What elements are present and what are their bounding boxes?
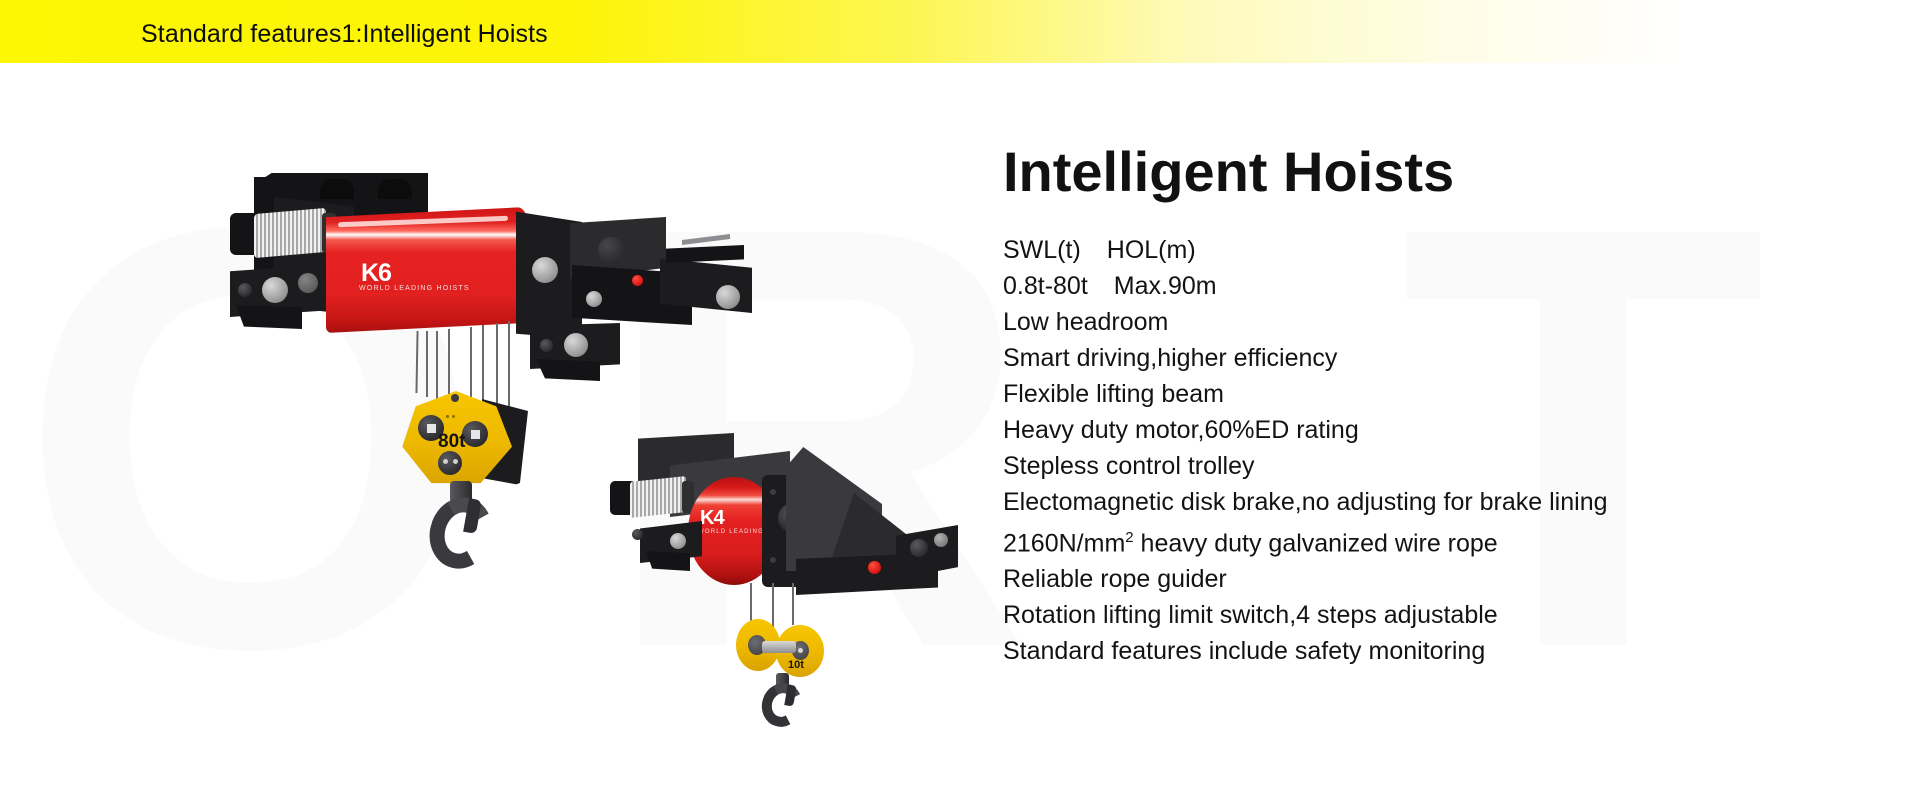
page-title: Intelligent Hoists — [1003, 140, 1823, 204]
feature-smart-driving: Smart driving,higher efficiency — [1003, 340, 1823, 376]
hookblock-capacity-10t: 10t — [788, 659, 804, 671]
spec-header-swl: SWL(t) — [1003, 236, 1081, 264]
slide-canvas: Standard features1:Intelligent Hoists O … — [0, 0, 1920, 800]
product-artwork: K6 WORLD LEADING HOISTS — [0, 63, 1000, 800]
hookblock-capacity-80t: 80t — [438, 431, 465, 453]
feature-rope-guider: Reliable rope guider — [1003, 561, 1823, 597]
feature-stepless-trolley: Stepless control trolley — [1003, 448, 1823, 484]
spec-value-hol: Max.90m — [1114, 272, 1217, 300]
feature-limit-switch: Rotation lifting limit switch,4 steps ad… — [1003, 597, 1823, 633]
k4-model-label: K4 — [700, 507, 724, 530]
feature-safety-monitoring: Standard features include safety monitor… — [1003, 633, 1823, 669]
feature-flexible-beam: Flexible lifting beam — [1003, 376, 1823, 412]
feature-heavy-duty-motor: Heavy duty motor,60%ED rating — [1003, 412, 1823, 448]
slide-title: Standard features1:Intelligent Hoists — [141, 20, 548, 49]
feature-low-headroom: Low headroom — [1003, 304, 1823, 340]
spec-header-hol: HOL(m) — [1107, 236, 1196, 264]
hookblock-80t: 80t — [400, 391, 530, 491]
k6-model-label: K6 — [361, 259, 391, 288]
k6-tagline: WORLD LEADING HOISTS — [359, 285, 470, 292]
spec-value-row: 0.8t-80tMax.90m — [1003, 268, 1823, 304]
spec-value-swl: 0.8t-80t — [1003, 272, 1088, 300]
wire-rope-superscript: 2 — [1125, 529, 1133, 546]
feature-wire-rope: 2160N/mm2 heavy duty galvanized wire rop… — [1003, 520, 1823, 561]
hook-small — [760, 673, 806, 729]
text-column: Intelligent Hoists SWL(t)HOL(m) 0.8t-80t… — [1003, 140, 1823, 669]
spec-header-row: SWL(t)HOL(m) — [1003, 232, 1823, 268]
wire-rope-rest: heavy duty galvanized wire rope — [1134, 529, 1498, 557]
hookblock-10t: 10t — [736, 619, 832, 681]
title-bar: Standard features1:Intelligent Hoists — [0, 0, 1920, 63]
hoist-k4: K4 WORLD LEADING HOISTS — [610, 433, 960, 693]
feature-disk-brake: Electomagnetic disk brake,no adjusting f… — [1003, 484, 1823, 520]
specifications-list: SWL(t)HOL(m) 0.8t-80tMax.90m Low headroo… — [1003, 232, 1823, 669]
wire-rope-strength: 2160N/mm — [1003, 529, 1125, 557]
hook-large — [426, 481, 496, 573]
